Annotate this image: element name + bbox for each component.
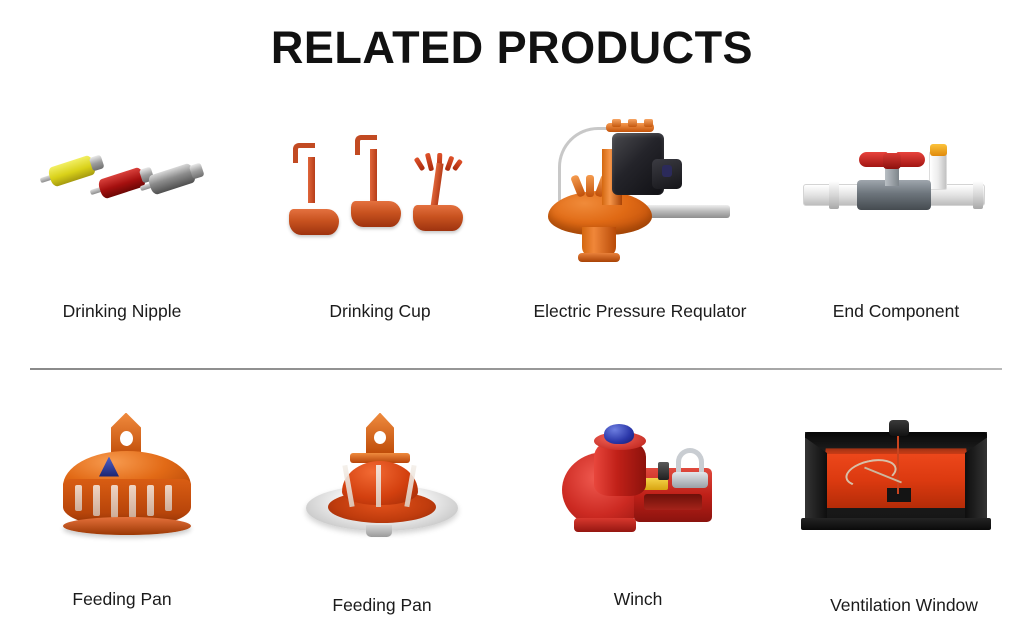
winch-icon [560, 418, 720, 538]
cup-unit-1 [289, 143, 341, 235]
winch-foot [574, 518, 636, 532]
product-image-winch [512, 400, 768, 555]
cup-unit-3 [413, 139, 465, 231]
valve-vertical-stub [929, 150, 947, 190]
product-label: Winch [614, 589, 663, 610]
window-hub [887, 488, 911, 502]
valve-yellow-cap [930, 144, 947, 156]
cup-stem [370, 149, 377, 205]
nipple-red [97, 166, 147, 199]
product-label: Ventilation Window [830, 595, 978, 616]
valve-collar-right [973, 181, 983, 209]
section-divider [30, 368, 1002, 370]
product-card-feeding-pan-grill[interactable]: Feeding Pan [0, 400, 256, 615]
valve-red-handle [859, 152, 925, 168]
product-label: Drinking Cup [329, 301, 430, 322]
product-image-pressure-regulator [512, 110, 768, 265]
product-image-feeding-pan-dish [256, 400, 512, 555]
cup-bowl [289, 209, 339, 235]
product-card-winch[interactable]: Winch [512, 400, 768, 615]
pan-rim [63, 517, 191, 535]
pan-hanger-hole [374, 431, 386, 444]
product-card-pressure-regulator[interactable]: Electric Pressure Requlator [512, 110, 768, 325]
drinking-nipple-icon [43, 153, 213, 223]
product-card-end-component[interactable]: End Component [768, 110, 1024, 325]
pan-ribs [342, 465, 418, 511]
product-label: Drinking Nipple [63, 301, 182, 322]
regulator-top-fitting [606, 119, 654, 135]
page-title: RELATED PRODUCTS [0, 22, 1024, 74]
product-label: Feeding Pan [332, 595, 431, 616]
nipple-silver [147, 162, 197, 195]
product-row-1: Drinking Nipple [0, 110, 1024, 325]
window-base-bar [801, 518, 991, 530]
product-card-feeding-pan-dish[interactable]: Feeding Pan [256, 400, 512, 615]
regulator-foot [578, 253, 620, 262]
product-image-feeding-pan-grill [0, 400, 256, 555]
product-image-end-component [768, 110, 1024, 265]
window-pulley [889, 420, 909, 436]
winch-slot [644, 494, 702, 510]
feeding-pan-grill-icon [53, 413, 203, 543]
product-image-drinking-cup [256, 110, 512, 265]
product-card-drinking-cup[interactable]: Drinking Cup [256, 110, 512, 325]
drinking-cup-icon [289, 133, 479, 243]
pressure-regulator-icon [540, 113, 740, 263]
winch-shackle-base [672, 472, 708, 488]
cup-bowl [413, 205, 463, 231]
cup-bowl [351, 201, 401, 227]
product-card-drinking-nipple[interactable]: Drinking Nipple [0, 110, 256, 325]
product-row-2: Feeding Pan Feeding Pan [0, 400, 1024, 615]
window-cable-vertical [897, 432, 899, 494]
cup-unit-2 [351, 135, 403, 227]
regulator-connector [662, 165, 672, 177]
product-label: Electric Pressure Requlator [534, 301, 747, 322]
pan-leg [366, 525, 392, 537]
product-image-ventilation-window [768, 400, 1024, 555]
winch-blue-cap [604, 424, 634, 444]
ventilation-window-icon [801, 418, 991, 538]
regulator-outlet-pipe [644, 205, 730, 218]
end-component-icon [801, 142, 991, 234]
nipple-yellow [47, 154, 97, 187]
product-card-ventilation-window[interactable]: Ventilation Window [768, 400, 1024, 615]
valve-collar-left [829, 181, 839, 209]
feeding-pan-dish-icon [304, 413, 464, 543]
product-image-drinking-nipple [0, 110, 256, 265]
related-products-page: RELATED PRODUCTS [0, 0, 1024, 635]
product-label: Feeding Pan [72, 589, 171, 610]
product-label: End Component [833, 301, 959, 322]
cup-stem [308, 157, 315, 203]
pan-hanger-hole [120, 431, 133, 446]
winch-bolt [658, 462, 669, 480]
